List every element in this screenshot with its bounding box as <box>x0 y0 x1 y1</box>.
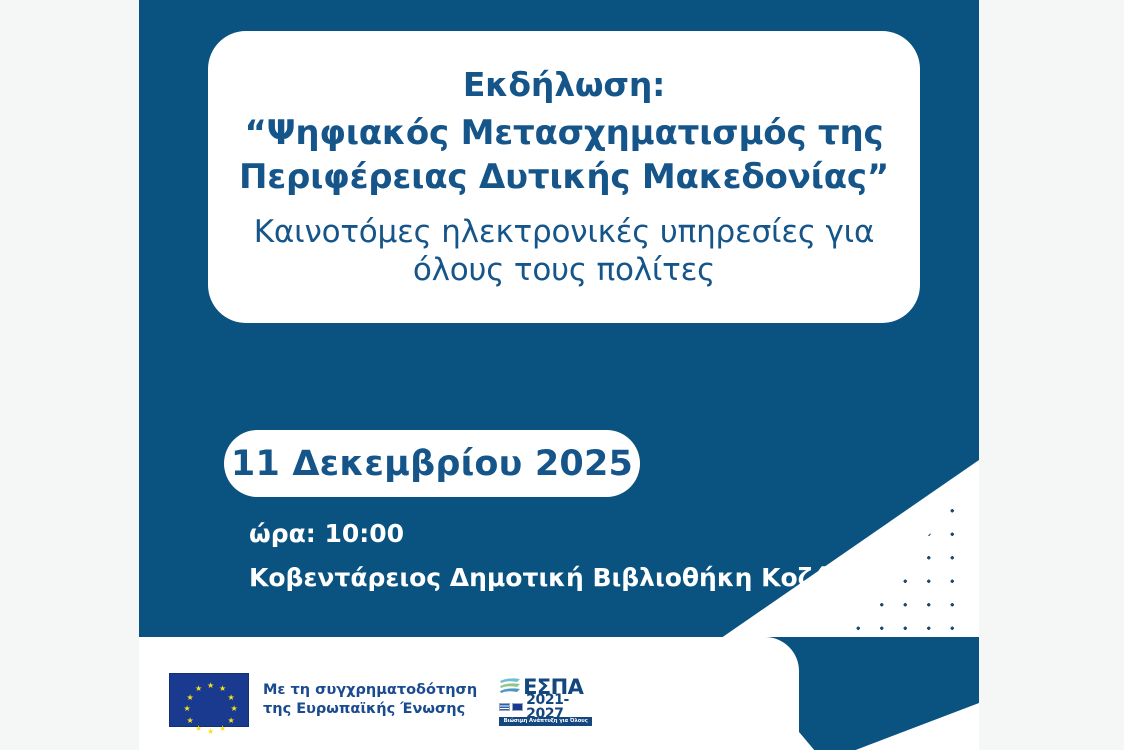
event-title-line-1: “Ψηφιακός Μετασχηματισμός της <box>244 114 883 154</box>
espa-logo-bottom-row: 2021-2027 <box>499 699 592 715</box>
footer-bar: ★ ★ ★ ★ ★ ★ ★ ★ ★ ★ ★ ★ Με τη συγχρηματο… <box>139 637 799 750</box>
eu-mini-flag-icon <box>512 703 523 711</box>
event-eyebrow-label: Εκδήλωση: <box>463 66 665 105</box>
event-title-line-2: Περιφέρειας Δυτικής Μακεδονίας” <box>239 158 889 198</box>
page-gutter-right <box>979 0 1124 750</box>
eu-cofunding-caption-line-1: Με τη συγχρηματοδότηση <box>263 681 477 700</box>
espa-swoosh-icon <box>499 677 521 698</box>
espa-mini-flags <box>499 703 523 711</box>
event-venue-label: Κοβεντάρειος Δημοτική Βιβλιοθήκη Κοζάνης <box>249 563 879 592</box>
event-subtitle-line-1: Καινοτόμες ηλεκτρονικές υπηρεσίες για <box>254 214 874 250</box>
greece-flag-icon <box>499 703 510 711</box>
european-union-flag-icon: ★ ★ ★ ★ ★ ★ ★ ★ ★ ★ ★ ★ <box>169 673 249 727</box>
event-subtitle-line-2: όλους τους πολίτες <box>413 252 715 288</box>
event-date-label: 11 Δεκεμβρίου 2025 <box>231 444 633 484</box>
espa-logo: ΕΣΠΑ 2021-2027 Βιώσιμη Ανάπτυξη για Όλου… <box>499 673 592 727</box>
event-date-pill: 11 Δεκεμβρίου 2025 <box>224 430 640 497</box>
event-time-label: ώρα: 10:00 <box>249 519 404 548</box>
footer-logo-group: ★ ★ ★ ★ ★ ★ ★ ★ ★ ★ ★ ★ Με τη συγχρηματο… <box>169 673 592 727</box>
eu-cofunding-caption-line-2: της Ευρωπαϊκής Ένωσης <box>263 700 477 719</box>
title-card: Εκδήλωση: “Ψηφιακός Μετασχηματισμός της … <box>208 31 920 323</box>
espa-tagline-label: Βιώσιμη Ανάπτυξη για Όλους <box>499 717 592 726</box>
poster-root: Εκδήλωση: “Ψηφιακός Μετασχηματισμός της … <box>0 0 1124 750</box>
poster-panel: Εκδήλωση: “Ψηφιακός Μετασχηματισμός της … <box>139 0 979 750</box>
page-gutter-left <box>0 0 138 750</box>
eu-cofunding-caption: Με τη συγχρηματοδότηση της Ευρωπαϊκής Έν… <box>263 681 477 719</box>
